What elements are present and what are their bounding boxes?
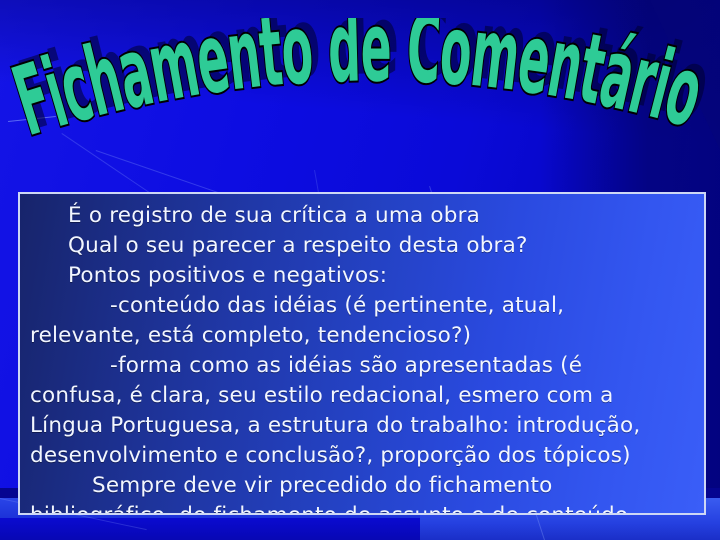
background-bottom-left-band-2 — [0, 518, 420, 540]
slide-title: Fichamento de Comentário Fichamento de C… — [0, 18, 720, 183]
content-text-box: É o registro de sua crítica a uma obraQu… — [18, 192, 706, 515]
wordart-title-text: Fichamento de Comentário — [2, 18, 714, 158]
content-line: Pontos positivos e negativos: — [30, 261, 698, 291]
wordart-title-textpath: Fichamento de Comentário — [2, 18, 714, 158]
content-line: bibliográfico, do fichamento de assunto … — [30, 501, 698, 515]
presentation-slide: Fichamento de Comentário Fichamento de C… — [0, 0, 720, 540]
content-line: Língua Portuguesa, a estrutura do trabal… — [30, 411, 698, 441]
content-line: confusa, é clara, seu estilo redacional,… — [30, 381, 698, 411]
content-line: relevante, está completo, tendencioso?) — [30, 321, 698, 351]
wordart-title-graphic: Fichamento de Comentário Fichamento de C… — [0, 18, 720, 183]
content-line: Qual o seu parecer a respeito desta obra… — [30, 231, 698, 261]
content-line: desenvolvimento e conclusão?, proporção … — [30, 441, 698, 471]
content-line: É o registro de sua crítica a uma obra — [30, 201, 698, 231]
content-line: -conteúdo das idéias (é pertinente, atua… — [30, 291, 698, 321]
content-line: Sempre deve vir precedido do fichamento — [30, 471, 698, 501]
content-line: -forma como as idéias são apresentadas (… — [30, 351, 698, 381]
content-line-list: É o registro de sua crítica a uma obraQu… — [30, 201, 698, 515]
content-text-box-inner: É o registro de sua crítica a uma obraQu… — [20, 194, 704, 515]
